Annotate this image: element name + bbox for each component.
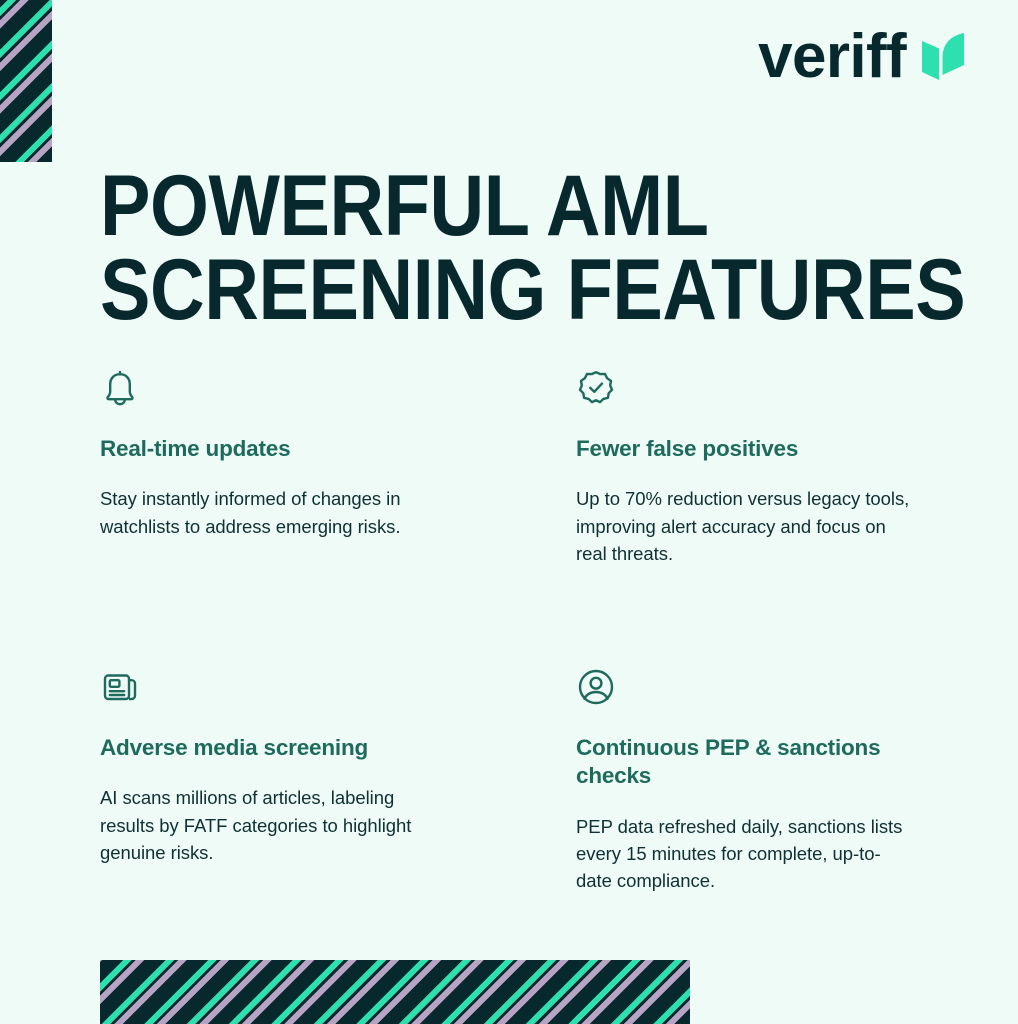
page-title-line-2: Screening features	[100, 248, 804, 332]
feature-title: Real-time updates	[100, 435, 440, 463]
decorative-stripes-top-left	[0, 0, 52, 162]
feature-card-continuous-pep-sanctions-checks: Continuous PEP & sanctions checks PEP da…	[576, 667, 916, 894]
page-title-line-1: Powerful AML	[100, 164, 804, 248]
page-title: Powerful AML Screening features	[100, 164, 804, 333]
feature-description: Up to 70% reduction versus legacy tools,…	[576, 485, 916, 567]
feature-description: AI scans millions of articles, labeling …	[100, 784, 440, 866]
feature-card-fewer-false-positives: Fewer false positives Up to 70% reductio…	[576, 368, 916, 567]
decorative-stripes-bottom	[100, 960, 690, 1024]
logo-wordmark: veriff	[758, 26, 906, 88]
feature-grid: Real-time updates Stay instantly informe…	[100, 368, 930, 895]
poster-canvas: veriff Powerful AML Screening features R…	[0, 0, 1018, 1024]
bell-icon	[100, 368, 140, 408]
feature-description: PEP data refreshed daily, sanctions list…	[576, 813, 916, 895]
feature-description: Stay instantly informed of changes in wa…	[100, 485, 440, 540]
newspaper-icon	[100, 667, 140, 707]
user-circle-icon	[576, 667, 616, 707]
veriff-leaf-mark-icon	[920, 32, 966, 82]
badge-check-icon	[576, 368, 616, 408]
feature-title: Adverse media screening	[100, 734, 440, 762]
veriff-logo: veriff	[758, 26, 966, 88]
feature-title: Fewer false positives	[576, 435, 916, 463]
feature-card-adverse-media-screening: Adverse media screening AI scans million…	[100, 667, 440, 894]
feature-title: Continuous PEP & sanctions checks	[576, 734, 916, 790]
feature-card-real-time-updates: Real-time updates Stay instantly informe…	[100, 368, 440, 567]
